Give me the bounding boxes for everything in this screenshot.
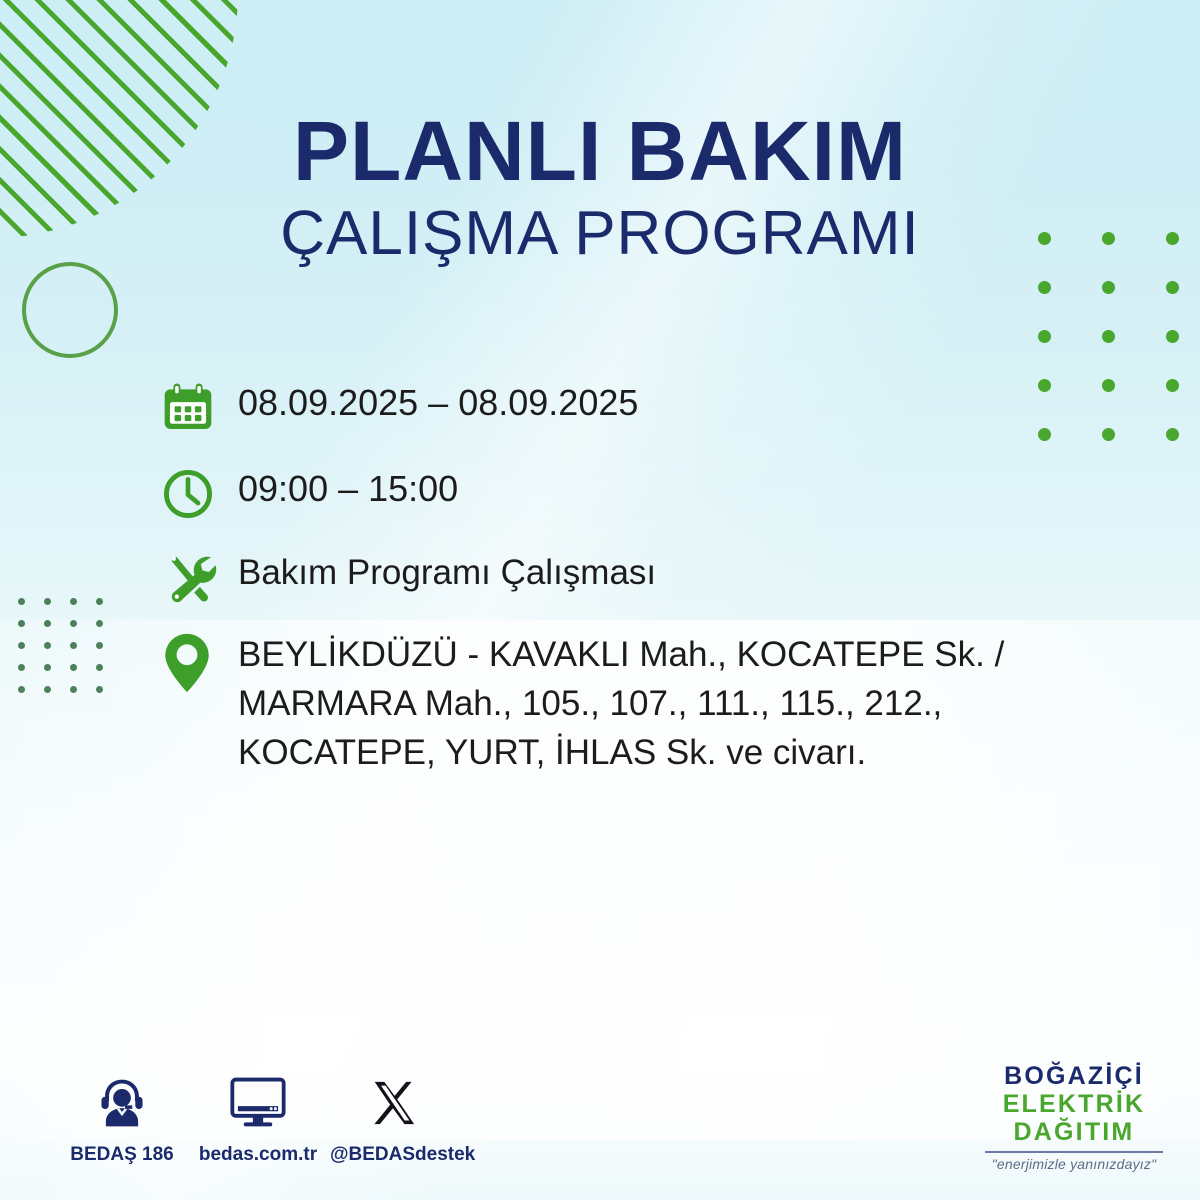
contact-phone[interactable]: BEDAŞ 186 bbox=[58, 1072, 186, 1166]
logo-line-bogazici: BOĞAZİÇİ bbox=[974, 1062, 1174, 1090]
dot bbox=[18, 686, 25, 693]
dot bbox=[70, 664, 77, 671]
location-pin-icon bbox=[160, 630, 238, 694]
dot bbox=[1102, 330, 1115, 343]
dot bbox=[44, 664, 51, 671]
detail-row-work-type: Bakım Programı Çalışması bbox=[160, 548, 1120, 608]
dot bbox=[96, 686, 103, 693]
detail-row-time: 09:00 – 15:00 bbox=[160, 464, 1120, 522]
time-range-text: 09:00 – 15:00 bbox=[238, 464, 1120, 513]
dot bbox=[1038, 330, 1051, 343]
dot bbox=[1166, 281, 1179, 294]
maintenance-details: 08.09.2025 – 08.09.2025 09:00 – 15:00 bbox=[160, 378, 1120, 777]
clock-icon bbox=[160, 464, 238, 522]
dot bbox=[70, 598, 77, 605]
dot bbox=[1102, 281, 1115, 294]
x-twitter-icon bbox=[330, 1072, 458, 1134]
page-title: PLANLI BAKIM bbox=[0, 108, 1200, 194]
dot bbox=[44, 598, 51, 605]
logo-line-dagitim: DAĞITIM bbox=[974, 1118, 1174, 1146]
work-type-text: Bakım Programı Çalışması bbox=[238, 548, 1120, 597]
location-text: BEYLİKDÜZÜ - KAVAKLI Mah., KOCATEPE Sk. … bbox=[238, 630, 1120, 777]
contact-x-label: @BEDASdestek bbox=[330, 1144, 458, 1166]
dot bbox=[96, 620, 103, 627]
dot bbox=[44, 642, 51, 649]
dot bbox=[96, 642, 103, 649]
bedas-logo: BOĞAZİÇİ ELEKTRİK DAĞITIM "enerjimizle y… bbox=[974, 1062, 1174, 1172]
dot-grid-left-decoration bbox=[18, 598, 122, 708]
dot bbox=[18, 664, 25, 671]
contact-website[interactable]: bedas.com.tr bbox=[194, 1072, 322, 1166]
headset-support-icon bbox=[58, 1072, 186, 1134]
dot bbox=[1166, 379, 1179, 392]
detail-row-location: BEYLİKDÜZÜ - KAVAKLI Mah., KOCATEPE Sk. … bbox=[160, 630, 1120, 777]
dot bbox=[96, 664, 103, 671]
contact-phone-label: BEDAŞ 186 bbox=[58, 1144, 186, 1166]
calendar-icon bbox=[160, 378, 238, 436]
dot bbox=[18, 642, 25, 649]
dot bbox=[18, 598, 25, 605]
date-range-text: 08.09.2025 – 08.09.2025 bbox=[238, 378, 1120, 427]
page-subtitle: ÇALIŞMA PROGRAMI bbox=[0, 202, 1200, 266]
logo-divider bbox=[985, 1151, 1163, 1153]
dot bbox=[1166, 428, 1179, 441]
logo-line-elektrik: ELEKTRİK bbox=[974, 1090, 1174, 1118]
dot bbox=[18, 620, 25, 627]
dot bbox=[70, 642, 77, 649]
dot bbox=[44, 620, 51, 627]
dot bbox=[70, 686, 77, 693]
dot bbox=[70, 620, 77, 627]
logo-tagline: "enerjimizle yanınızdayız" bbox=[974, 1156, 1174, 1172]
poster-header: PLANLI BAKIM ÇALIŞMA PROGRAMI bbox=[0, 108, 1200, 266]
circle-outline-decoration bbox=[22, 262, 118, 358]
detail-row-date: 08.09.2025 – 08.09.2025 bbox=[160, 378, 1120, 436]
dot bbox=[1166, 330, 1179, 343]
planned-maintenance-poster: PLANLI BAKIM ÇALIŞMA PROGRAMI bbox=[0, 0, 1200, 1200]
dot bbox=[96, 598, 103, 605]
monitor-icon bbox=[194, 1072, 322, 1134]
contact-x-account[interactable]: @BEDASdestek bbox=[330, 1072, 458, 1166]
tools-icon bbox=[160, 548, 238, 608]
contact-website-label: bedas.com.tr bbox=[194, 1144, 322, 1166]
footer-contact-bar: BEDAŞ 186 bedas.com.tr @B bbox=[58, 1072, 466, 1166]
dot bbox=[1038, 281, 1051, 294]
dot bbox=[44, 686, 51, 693]
